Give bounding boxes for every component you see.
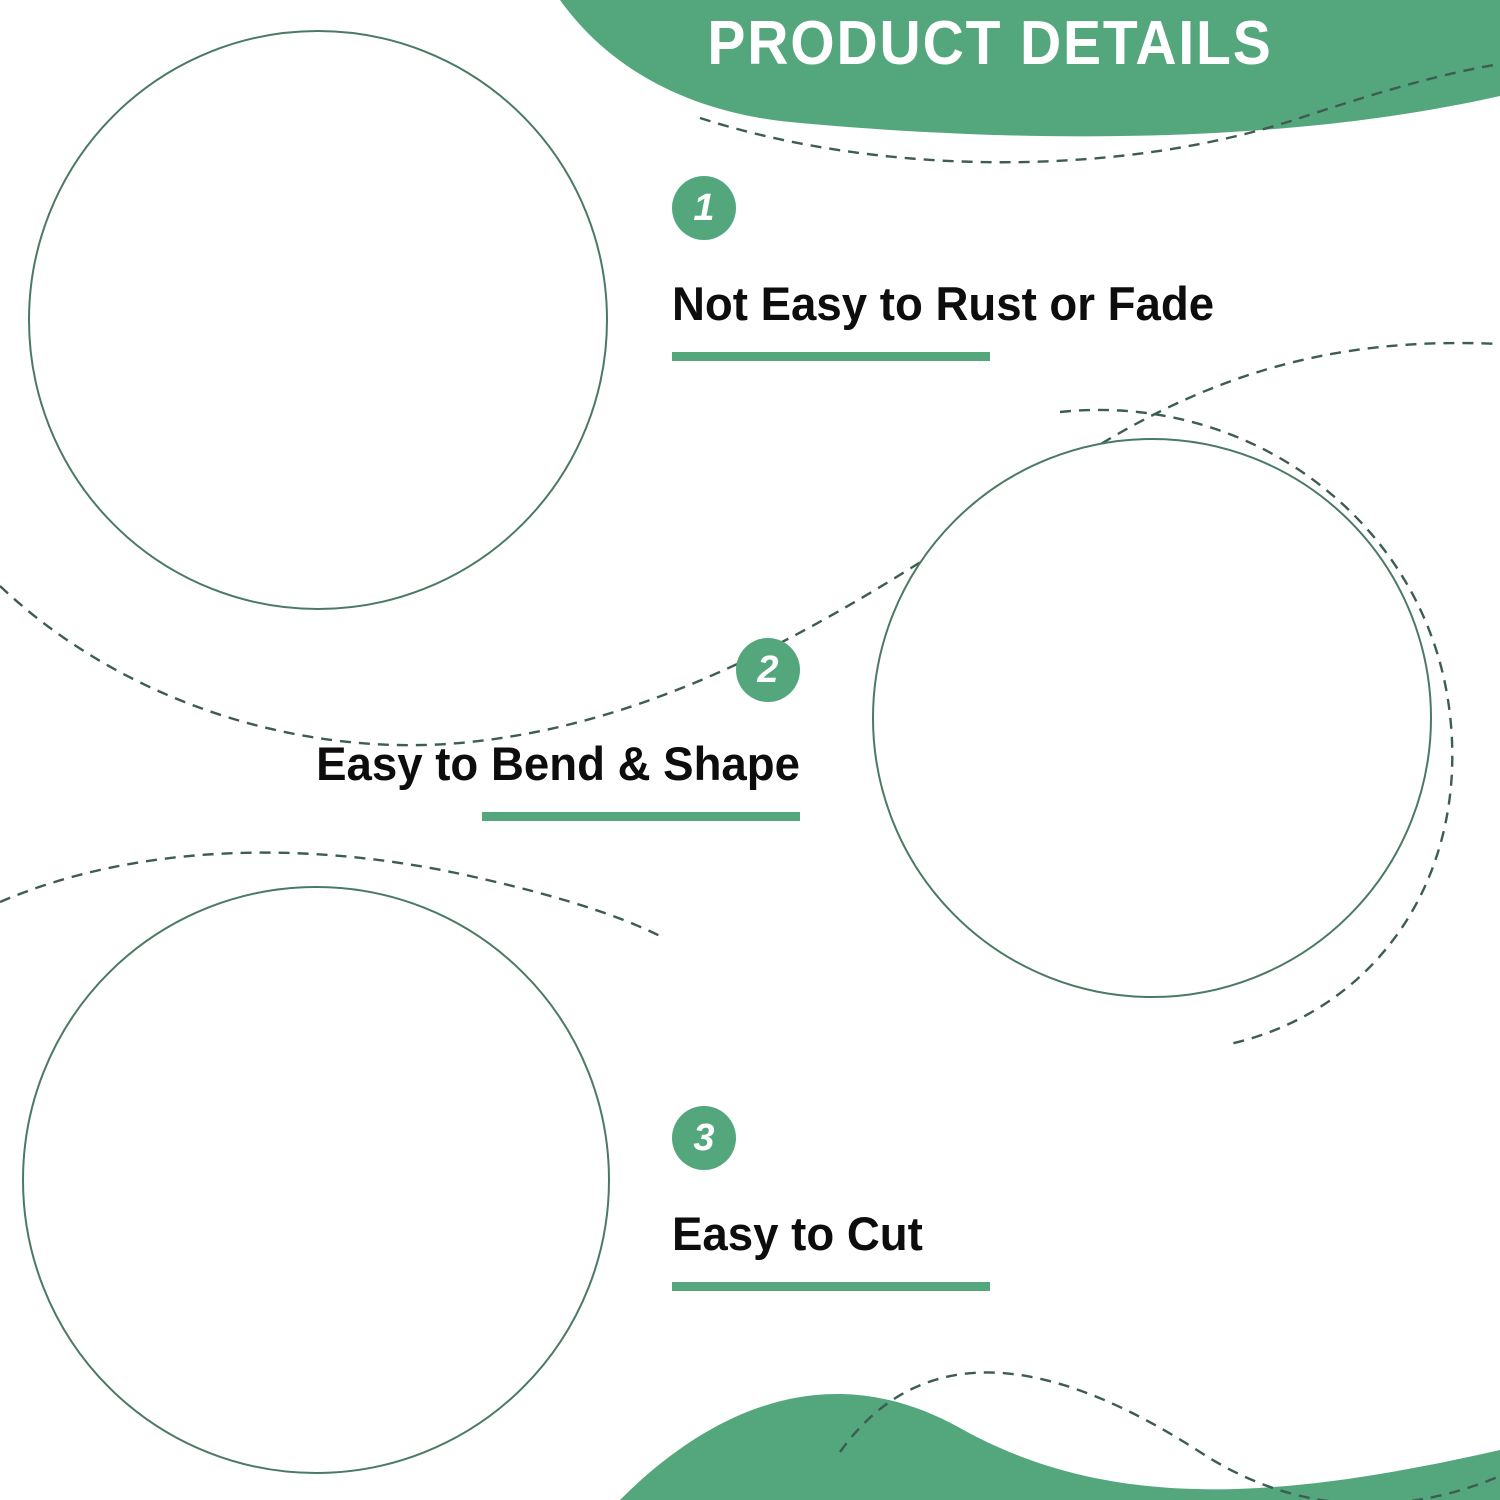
feature-underline-2 — [482, 812, 800, 821]
footer-green-blob — [620, 1394, 1500, 1500]
feature-block-2: 2 Easy to Bend & Shape — [248, 638, 800, 821]
feature-number-badge-2: 2 — [736, 638, 800, 702]
photo-circle-pink-wire-spiral — [872, 438, 1432, 998]
photo-circle-pink-wire-coil-strands — [28, 30, 608, 610]
feature-block-1: 1 Not Easy to Rust or Fade — [672, 176, 1231, 361]
product-details-infographic: PRODUCT DETAILS 1 Not Easy to Rust or Fa… — [0, 0, 1500, 1500]
feature-heading-1: Not Easy to Rust or Fade — [672, 278, 1214, 330]
feature-number-badge-1: 1 — [672, 176, 736, 240]
feature-underline-1 — [672, 352, 990, 361]
feature-heading-2: Easy to Bend & Shape — [265, 738, 800, 790]
dashed-curve-bottom — [840, 1372, 1500, 1500]
feature-underline-3 — [672, 1282, 990, 1291]
photo-circle-scissors-cutting-wire — [22, 886, 610, 1474]
feature-number-badge-3: 3 — [672, 1106, 736, 1170]
page-title: PRODUCT DETAILS — [668, 8, 1312, 79]
feature-heading-3: Easy to Cut — [672, 1208, 980, 1260]
feature-block-3: 3 Easy to Cut — [672, 1106, 990, 1291]
